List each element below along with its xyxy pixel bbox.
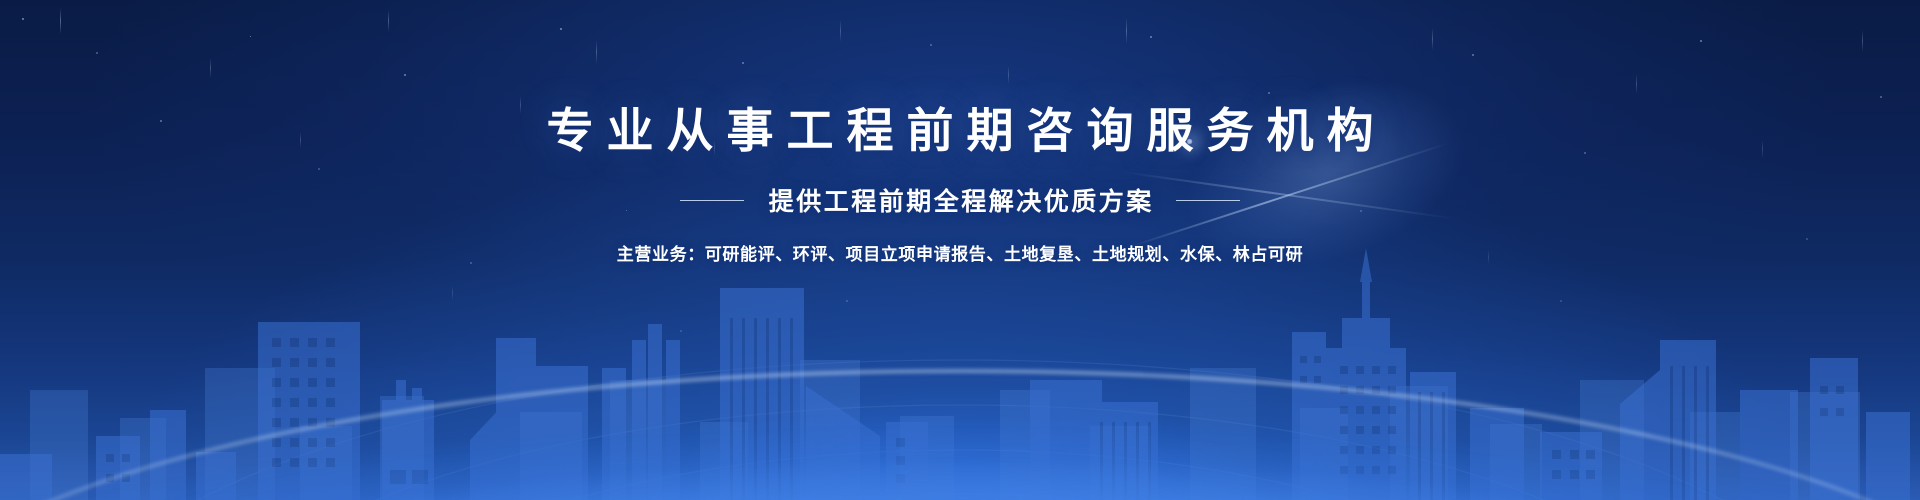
hero-banner: 专业从事工程前期咨询服务机构 提供工程前期全程解决优质方案 主营业务：可研能评、…: [0, 0, 1920, 500]
page-title: 专业从事工程前期咨询服务机构: [0, 104, 1920, 158]
banner-content: 专业从事工程前期咨询服务机构 提供工程前期全程解决优质方案 主营业务：可研能评、…: [0, 104, 1920, 265]
rule-left-icon: [680, 200, 744, 201]
rule-right-icon: [1176, 200, 1240, 201]
subtitle-row: 提供工程前期全程解决优质方案: [0, 182, 1920, 218]
page-subtitle: 提供工程前期全程解决优质方案: [766, 182, 1154, 218]
business-scope-text: 主营业务：可研能评、环评、项目立项申请报告、土地复垦、土地规划、水保、林占可研: [0, 240, 1920, 265]
